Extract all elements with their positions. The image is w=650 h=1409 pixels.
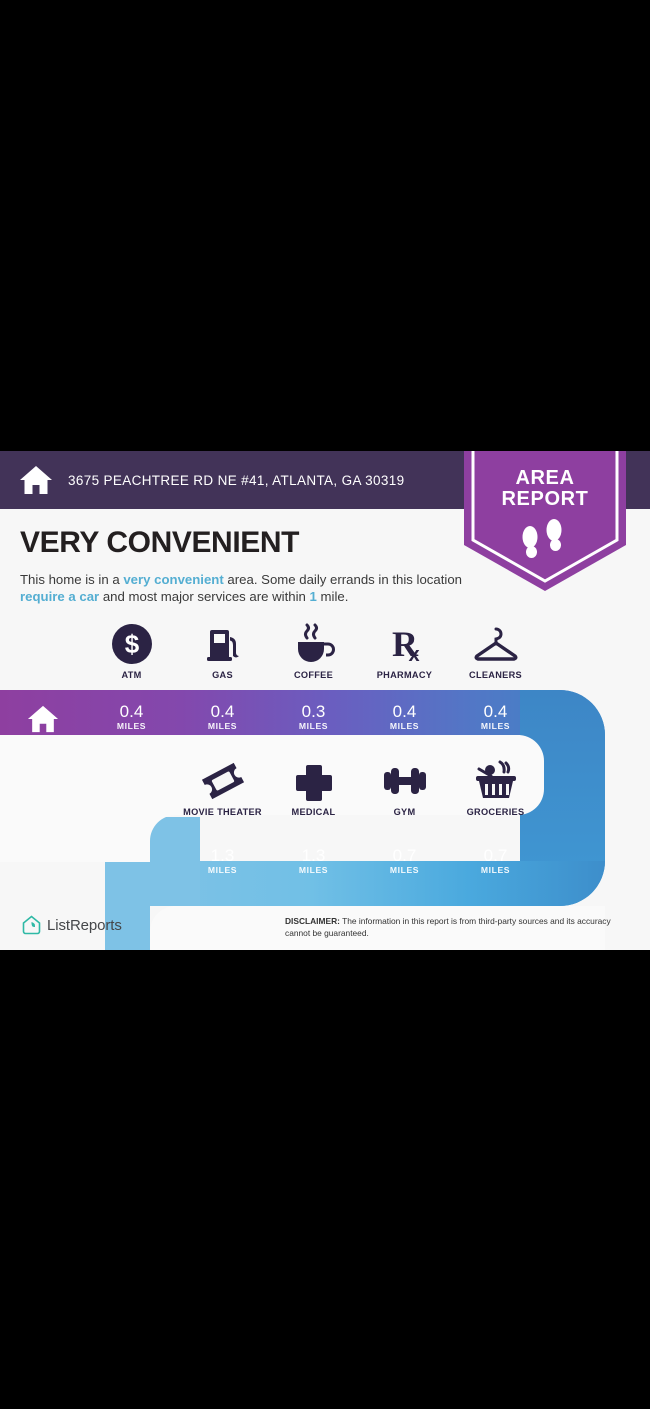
amenity-icon-row-2: MOVIE THEATER MEDICAL GYM (177, 758, 541, 817)
svg-text:$: $ (124, 629, 139, 659)
amenity-gym[interactable]: GYM (359, 758, 450, 817)
medical-cross-icon (293, 758, 335, 802)
area-report-card: 3675 PEACHTREE RD NE #41, ATLANTA, GA 30… (0, 451, 650, 950)
amenity-label: GAS (212, 670, 233, 680)
badge-shield-icon (464, 451, 626, 591)
atm-dollar-icon: $ (111, 621, 153, 665)
distance-cell: 0.7 MILES (450, 847, 541, 875)
distance-value: 0.4 (177, 703, 268, 721)
amenity-label: GYM (394, 807, 416, 817)
distance-row-1: 0.4 MILES 0.4 MILES 0.3 MILES 0.4 MILES … (86, 703, 541, 731)
distance-unit: MILES (450, 721, 541, 731)
distance-cell: 0.7 MILES (359, 847, 450, 875)
amenity-label: ATM (121, 670, 141, 680)
distance-cell: 0.4 MILES (86, 703, 177, 731)
distance-cell: 0.4 MILES (359, 703, 450, 731)
listreports-logo-text: ListReports (47, 917, 122, 934)
distance-unit: MILES (177, 721, 268, 731)
amenity-gas[interactable]: GAS (177, 621, 268, 680)
hanger-icon (471, 621, 521, 665)
distance-value: 0.7 (450, 847, 541, 865)
address-text: 3675 PEACHTREE RD NE #41, ATLANTA, GA 30… (68, 473, 404, 488)
amenity-movie-theater[interactable]: MOVIE THEATER (177, 758, 268, 817)
movie-ticket-icon (200, 758, 246, 802)
distance-value: 0.4 (450, 703, 541, 721)
desc-part-a: This home is in a (20, 572, 123, 587)
amenity-medical[interactable]: MEDICAL (268, 758, 359, 817)
desc-part-b: area. Some daily errands in this locatio… (224, 572, 462, 587)
amenity-atm[interactable]: $ ATM (86, 621, 177, 680)
distance-cell: 0.4 MILES (450, 703, 541, 731)
coffee-cup-icon (292, 621, 336, 665)
page-title: VERY CONVENIENT (20, 526, 299, 560)
home-marker-cell (14, 703, 72, 741)
distance-value: 0.4 (359, 703, 450, 721)
area-report-badge: AREA REPORT (464, 451, 626, 591)
distance-unit: MILES (177, 865, 268, 875)
amenity-icon-row-1: $ ATM GAS (86, 621, 541, 680)
rx-icon: R x (384, 621, 426, 665)
grocery-basket-icon (473, 758, 519, 802)
distance-unit: MILES (450, 865, 541, 875)
amenity-label: PHARMACY (377, 670, 432, 680)
distance-value: 1.3 (268, 847, 359, 865)
desc-part-d: mile. (317, 589, 349, 604)
distance-cell: 1.3 MILES (268, 847, 359, 875)
gas-pump-icon (202, 621, 244, 665)
distance-unit: MILES (268, 721, 359, 731)
desc-highlight-car: require a car (20, 589, 99, 604)
amenity-label: COFFEE (294, 670, 333, 680)
distance-unit: MILES (359, 865, 450, 875)
amenity-label: MEDICAL (292, 807, 336, 817)
distance-cell: 0.4 MILES (177, 703, 268, 731)
distance-unit: MILES (359, 721, 450, 731)
house-icon (18, 463, 54, 497)
distance-value: 0.7 (359, 847, 450, 865)
page-description: This home is in a very convenient area. … (20, 571, 465, 606)
distance-value: 0.4 (86, 703, 177, 721)
amenity-cleaners[interactable]: CLEANERS (450, 621, 541, 680)
amenity-groceries[interactable]: GROCERIES (450, 758, 541, 817)
distance-unit: MILES (268, 865, 359, 875)
amenity-label: MOVIE THEATER (183, 807, 262, 817)
desc-part-c: and most major services are within (99, 589, 309, 604)
amenity-pharmacy[interactable]: R x PHARMACY (359, 621, 450, 680)
desc-highlight-mile: 1 (310, 589, 317, 604)
listreports-house-icon (22, 915, 41, 935)
distance-cell: 0.3 MILES (268, 703, 359, 731)
svg-text:x: x (408, 644, 419, 665)
distance-value: 1.3 (177, 847, 268, 865)
listreports-logo[interactable]: ListReports (22, 915, 122, 935)
amenity-label: GROCERIES (467, 807, 525, 817)
amenity-coffee[interactable]: COFFEE (268, 621, 359, 680)
distance-unit: MILES (86, 721, 177, 731)
distance-cell: 1.3 MILES (177, 847, 268, 875)
house-icon (26, 703, 60, 735)
distance-row-2: 1.3 MILES 1.3 MILES 0.7 MILES 0.7 MILES (177, 847, 541, 875)
disclaimer: DISCLAIMER: The information in this repo… (285, 916, 630, 939)
desc-highlight-convenient: very convenient (123, 572, 223, 587)
distance-value: 0.3 (268, 703, 359, 721)
disclaimer-label: DISCLAIMER: (285, 916, 340, 926)
dumbbell-icon (380, 758, 430, 802)
amenity-label: CLEANERS (469, 670, 522, 680)
